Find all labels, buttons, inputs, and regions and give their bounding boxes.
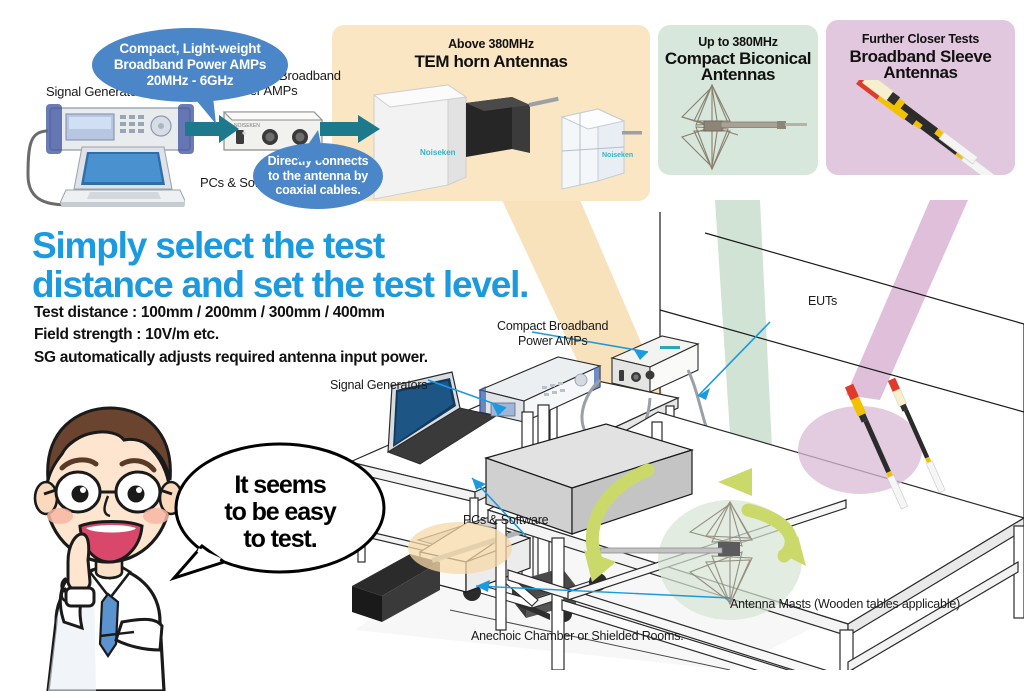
- balloon-line1: It seems: [190, 472, 370, 499]
- label-scene-chamber: Anechoic Chamber or Shielded Rooms.: [471, 629, 684, 643]
- biconical-antenna-icon: [676, 83, 808, 175]
- speech-balloon-text: It seems to be easy to test.: [190, 472, 370, 553]
- label-scene-pcs-software: PCs & Software: [463, 513, 548, 527]
- laptop-device: [60, 145, 185, 213]
- diagram-canvas: Above 380MHz TEM horn Antennas Noiseken …: [0, 0, 1024, 691]
- panel-biconical-title-line2: Antennas: [658, 66, 818, 85]
- balloon-line3: to test.: [190, 526, 370, 553]
- callout-coax-line2: to the antenna by: [268, 169, 369, 184]
- label-scene-compact-amps-line2: Power AMPs: [518, 334, 588, 348]
- callout-coax-line3: coaxial cables.: [268, 183, 369, 198]
- callout-amp-tail: [186, 88, 236, 128]
- label-scene-signal-generators: Signal Generators: [330, 378, 427, 392]
- panel-tem-horn-title: TEM horn Antennas: [332, 53, 650, 72]
- balloon-line2: to be easy: [190, 499, 370, 526]
- panel-compact-biconical[interactable]: Up to 380MHz Compact Biconical Antennas: [658, 25, 818, 175]
- panel-tem-horn-subtitle: Above 380MHz: [332, 37, 650, 51]
- label-scene-antenna-masts: Antenna Masts (Wooden tables applicable): [730, 597, 960, 611]
- tem-horn-antenna-icon: Noiseken Noiseken: [362, 77, 642, 202]
- label-scene-euts: EUTs: [808, 294, 837, 308]
- panel-sleeve-subtitle: Further Closer Tests: [826, 32, 1015, 46]
- label-scene-compact-amps-line1: Compact Broadband: [497, 319, 608, 333]
- panel-biconical-subtitle: Up to 380MHz: [658, 35, 818, 49]
- sleeve-antenna-icon: [834, 80, 1009, 175]
- callout-amp-line3: 20MHz - 6GHz: [114, 73, 266, 89]
- callout-amp-line1: Compact, Light-weight: [114, 41, 266, 57]
- panel-broadband-sleeve[interactable]: Further Closer Tests Broadband Sleeve An…: [826, 20, 1015, 175]
- callout-coax-tail: [288, 130, 338, 166]
- callout-amp-line2: Broadband Power AMPs: [114, 57, 266, 73]
- svg-text:Noiseken: Noiseken: [420, 148, 456, 157]
- svg-text:Noiseken: Noiseken: [602, 152, 633, 159]
